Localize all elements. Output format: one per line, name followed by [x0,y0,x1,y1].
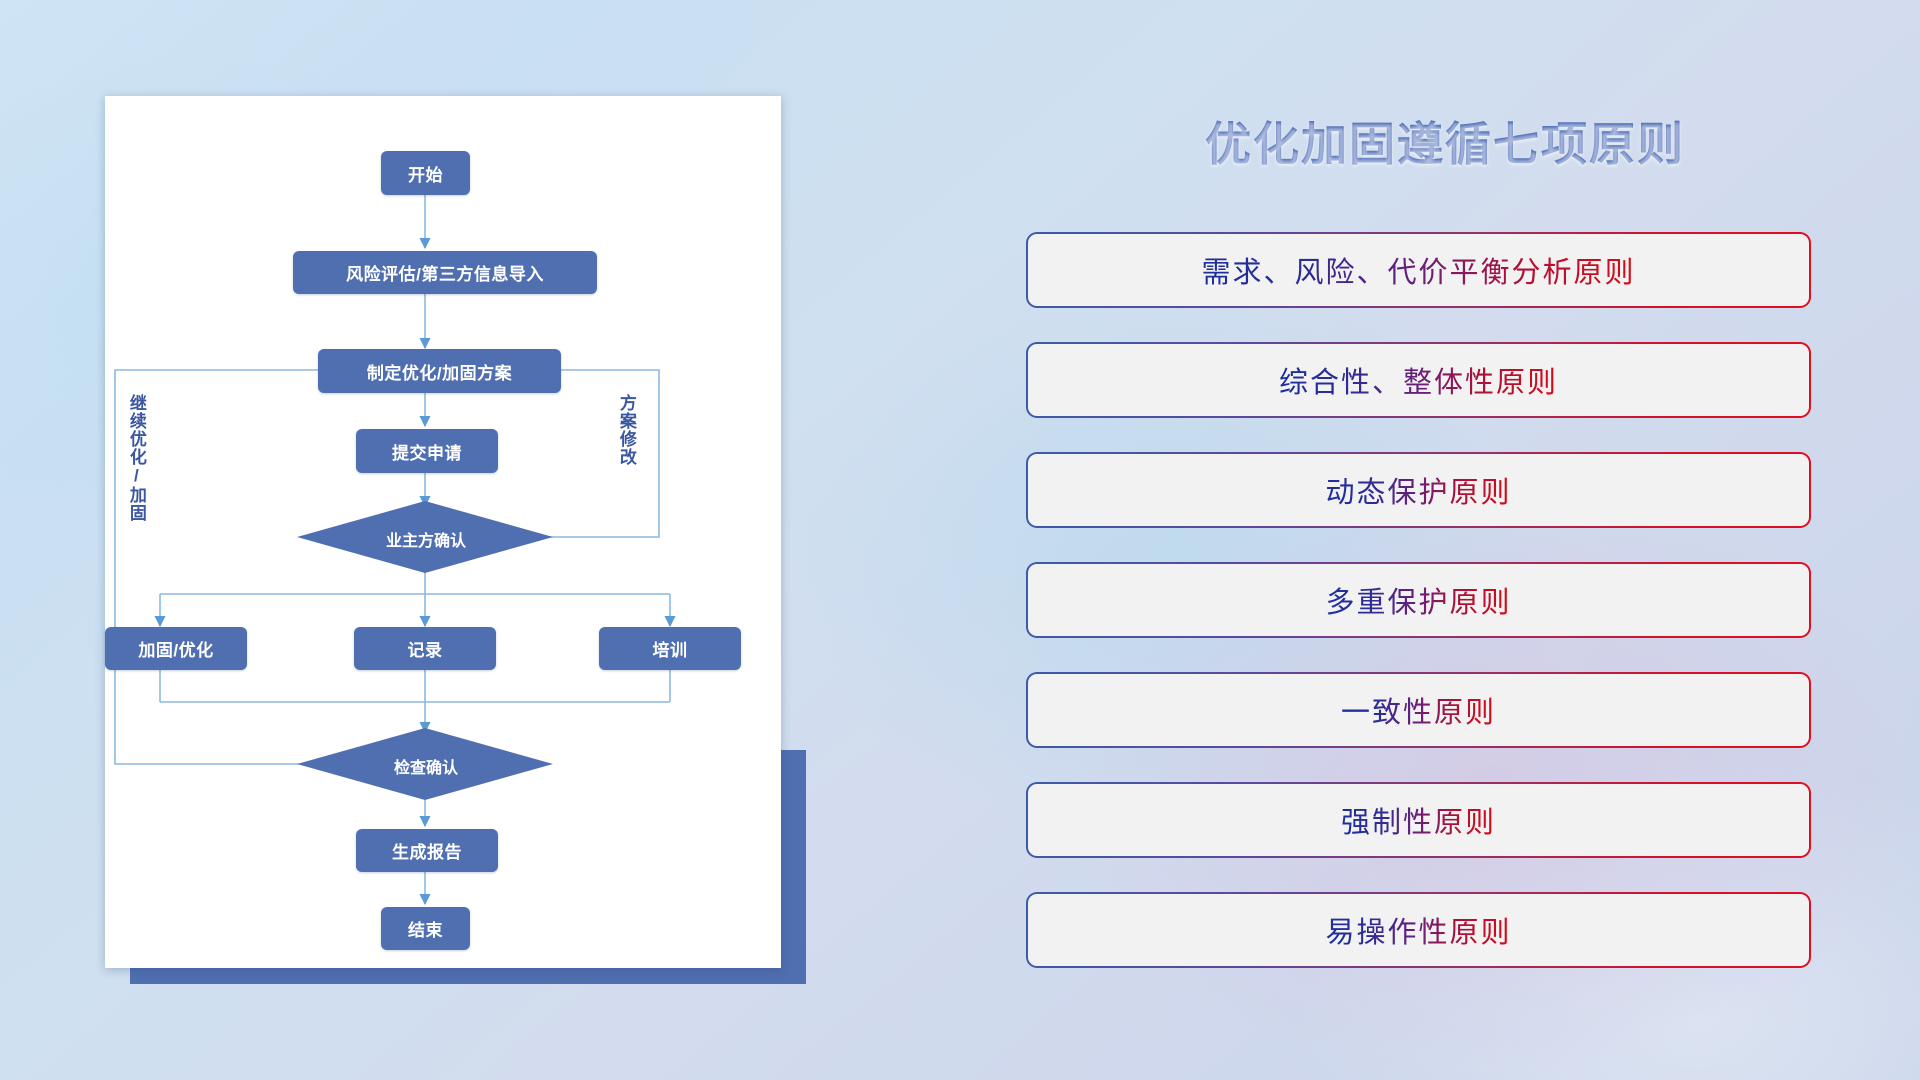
flow-node-label: 培训 [653,636,688,661]
principle-label: 综合性、整体性原则 [1279,359,1558,401]
flow-node-label: 生成报告 [392,838,462,863]
principle-card[interactable]: 一致性原则 [1026,672,1811,748]
principle-card[interactable]: 动态保护原则 [1026,452,1811,528]
flow-node-start[interactable]: 开始 [381,151,470,195]
principle-label: 强制性原则 [1341,799,1496,841]
principle-card[interactable]: 强制性原则 [1026,782,1811,858]
flow-node-training[interactable]: 培训 [599,627,741,670]
principle-label: 易操作性原则 [1325,909,1511,951]
principles-list: 需求、风险、代价平衡分析原则 综合性、整体性原则 动态保护原则 多重保护原则 一… [1026,232,1811,1002]
flow-node-risk-assessment[interactable]: 风险评估/第三方信息导入 [293,251,597,294]
principle-label: 一致性原则 [1341,689,1496,731]
principle-card[interactable]: 多重保护原则 [1026,562,1811,638]
principle-card-inner: 强制性原则 [1028,784,1809,856]
flow-node-generate-report[interactable]: 生成报告 [356,829,498,872]
principle-label: 多重保护原则 [1325,579,1511,621]
principle-label: 需求、风险、代价平衡分析原则 [1201,249,1635,291]
flowchart-panel: 开始 风险评估/第三方信息导入 制定优化/加固方案 提交申请 业主方确认 加固/… [105,96,781,968]
principles-title: 优化加固遵循七项原则 [1030,108,1860,174]
principle-card-inner: 多重保护原则 [1028,564,1809,636]
flow-node-label: 风险评估/第三方信息导入 [346,260,544,285]
flow-node-label: 结束 [408,916,443,941]
flow-node-label: 加固/优化 [138,636,213,661]
principle-card[interactable]: 综合性、整体性原则 [1026,342,1811,418]
flow-node-label: 提交申请 [392,439,462,464]
flow-node-label: 开始 [408,161,443,186]
flow-node-reinforce-optimize[interactable]: 加固/优化 [105,627,247,670]
principle-card-inner: 动态保护原则 [1028,454,1809,526]
flow-node-end[interactable]: 结束 [381,907,470,950]
slide-root: 开始 风险评估/第三方信息导入 制定优化/加固方案 提交申请 业主方确认 加固/… [0,0,1920,1080]
principle-card[interactable]: 需求、风险、代价平衡分析原则 [1026,232,1811,308]
flow-node-plan[interactable]: 制定优化/加固方案 [318,349,561,393]
principle-card-inner: 一致性原则 [1028,674,1809,746]
flow-node-record[interactable]: 记录 [354,627,496,670]
flow-node-label: 记录 [408,636,443,661]
flow-node-submit-application[interactable]: 提交申请 [356,429,498,473]
principle-card-inner: 易操作性原则 [1028,894,1809,966]
principle-card-inner: 需求、风险、代价平衡分析原则 [1028,234,1809,306]
principle-card-inner: 综合性、整体性原则 [1028,344,1809,416]
principle-label: 动态保护原则 [1325,469,1511,511]
flow-edge-label-continue-optimize: 继续优化/加固 [127,394,145,522]
principle-card[interactable]: 易操作性原则 [1026,892,1811,968]
flow-node-label: 制定优化/加固方案 [367,359,512,384]
flow-edge-label-plan-revision: 方案修改 [617,394,635,466]
